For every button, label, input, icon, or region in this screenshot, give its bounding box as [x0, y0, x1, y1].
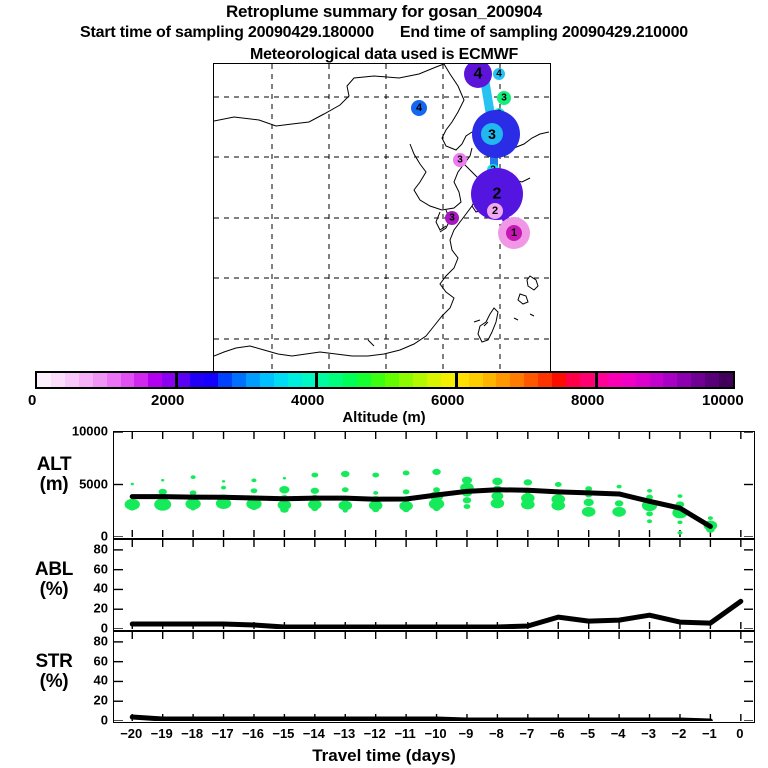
colorbar-swatch-43	[636, 373, 650, 387]
start-time-label: Start time of sampling 20090429.180000	[80, 24, 400, 42]
alt-y-tick: 5000	[48, 476, 108, 491]
alt-particle-bubble	[433, 506, 440, 511]
x-tick-label: −3	[632, 726, 666, 741]
str-y-tick: 60	[48, 653, 108, 668]
colorbar-swatch-35	[524, 373, 538, 387]
x-tick-label: −10	[419, 726, 453, 741]
colorbar-swatch-26	[399, 373, 413, 387]
colorbar-swatch-17	[274, 373, 288, 387]
alt-particle-bubble	[677, 520, 682, 524]
colorbar-swatch-37	[552, 373, 566, 387]
alt-name-text: ALT	[8, 455, 100, 475]
plume-marker-label: 3	[457, 155, 463, 166]
colorbar-tick-4000: 4000	[291, 392, 324, 409]
alt-particle-bubble	[161, 479, 164, 481]
alt-particle-bubble	[403, 470, 410, 475]
x-tick-label: −6	[540, 726, 574, 741]
abl-plot[interactable]	[113, 539, 755, 631]
x-tick-label: −4	[601, 726, 635, 741]
colorbar-tick-0: 0	[28, 392, 36, 409]
colorbar-swatch-21	[329, 373, 343, 387]
plume-marker-label: 1	[511, 227, 517, 239]
abl-y-tick: 40	[48, 581, 108, 596]
abl-y-tick: 80	[48, 541, 108, 556]
alt-particle-bubble	[191, 507, 196, 511]
alt-particle-bubble	[129, 506, 136, 511]
colorbar-swatch-5	[107, 373, 121, 387]
alt-particle-bubble	[159, 504, 166, 509]
abl-plot-svg	[114, 540, 753, 629]
alt-particle-bubble	[584, 499, 594, 506]
x-tick-label: −13	[327, 726, 361, 741]
colorbar-tick-6000: 6000	[431, 392, 464, 409]
str-plot[interactable]	[113, 631, 755, 723]
colorbar-swatch-14	[232, 373, 246, 387]
colorbar-swatch-49	[719, 373, 733, 387]
alt-particle-bubble	[279, 486, 289, 493]
alt-particle-bubble	[551, 501, 565, 511]
str-y-tick: 80	[48, 633, 108, 648]
colorbar-swatch-33	[496, 373, 510, 387]
end-time-label: End time of sampling 20090429.210000	[400, 24, 688, 42]
colorbar-swatch-42	[622, 373, 636, 387]
altitude-colorbar[interactable]	[35, 371, 735, 389]
x-tick-label: −16	[236, 726, 270, 741]
x-tick-label: −8	[479, 726, 513, 741]
colorbar-swatch-15	[246, 373, 260, 387]
colorbar-swatch-47	[691, 373, 705, 387]
colorbar-swatch-29	[441, 373, 455, 387]
plume-marker-label: 2	[492, 205, 498, 217]
alt-particle-bubble	[403, 489, 410, 494]
alt-particle-bubble	[492, 478, 502, 485]
colorbar-swatch-4	[93, 373, 107, 387]
alt-particle-bubble	[646, 511, 653, 516]
colorbar-swatch-3	[79, 373, 93, 387]
colorbar-divider	[595, 371, 598, 389]
x-tick-label: −18	[175, 726, 209, 741]
alt-particle-bubble	[617, 485, 622, 489]
alt-particle-bubble	[432, 469, 441, 475]
alt-particle-bubble	[464, 504, 471, 509]
colorbar-divider	[455, 371, 458, 389]
x-tick-label: −9	[449, 726, 483, 741]
x-tick-label: −20	[114, 726, 148, 741]
colorbar-swatch-41	[608, 373, 622, 387]
alt-particle-bubble	[221, 486, 226, 490]
alt-particle-bubble	[311, 473, 318, 478]
alt-plot[interactable]	[113, 431, 755, 539]
x-tick-label: −5	[571, 726, 605, 741]
alt-particle-bubble	[524, 479, 533, 485]
alt-particle-bubble	[403, 507, 410, 512]
alt-plot-svg	[114, 432, 753, 537]
str-line	[132, 717, 710, 721]
colorbar-swatch-31	[469, 373, 483, 387]
colorbar-tick-2000: 2000	[151, 392, 184, 409]
colorbar-swatch-27	[413, 373, 427, 387]
colorbar-swatch-38	[566, 373, 580, 387]
colorbar-swatch-28	[427, 373, 441, 387]
map-marker-layer: 44333343222311	[214, 64, 549, 370]
colorbar-swatch-36	[538, 373, 552, 387]
colorbar-swatch-12	[204, 373, 218, 387]
alt-particle-bubble	[191, 475, 196, 479]
alt-particle-bubble	[521, 499, 535, 509]
x-tick-label: −19	[145, 726, 179, 741]
colorbar-swatch-1	[51, 373, 65, 387]
x-tick-label: 0	[723, 726, 757, 741]
x-tick-label: −7	[510, 726, 544, 741]
x-tick-label: −17	[206, 726, 240, 741]
colorbar-swatch-18	[288, 373, 302, 387]
colorbar-tick-8000: 8000	[571, 392, 604, 409]
alt-particle-bubble	[555, 482, 562, 487]
x-tick-label: −15	[266, 726, 300, 741]
colorbar-swatch-10	[176, 373, 190, 387]
alt-particle-bubble	[251, 505, 258, 510]
colorbar-swatch-46	[677, 373, 691, 387]
alt-particle-bubble	[343, 509, 348, 513]
alt-particle-bubble	[372, 473, 379, 478]
colorbar-swatch-19	[302, 373, 316, 387]
sampling-time-line: Start time of sampling 20090429.180000En…	[0, 24, 768, 42]
colorbar-swatch-22	[343, 373, 357, 387]
abl-y-tick: 20	[48, 601, 108, 616]
colorbar-swatch-39	[580, 373, 594, 387]
colorbar-swatch-11	[190, 373, 204, 387]
colorbar-swatch-6	[121, 373, 135, 387]
str-plot-svg	[114, 632, 753, 721]
plume-marker-label: 3	[488, 126, 496, 142]
alt-particle-bubble	[311, 506, 318, 511]
alt-particle-bubble	[677, 494, 682, 498]
colorbar-swatch-13	[218, 373, 232, 387]
alt-particle-bubble	[372, 507, 379, 512]
alt-particle-bubble	[280, 507, 289, 513]
str-y-tick: 0	[48, 713, 108, 728]
colorbar-swatch-8	[148, 373, 162, 387]
alt-particle-bubble	[158, 489, 167, 495]
alt-particle-bubble	[491, 498, 505, 508]
colorbar-swatch-48	[705, 373, 719, 387]
plume-marker-label: 3	[449, 213, 455, 224]
alt-particle-bubble	[708, 516, 713, 520]
colorbar-swatch-7	[134, 373, 148, 387]
plume-marker-label: 4	[496, 69, 502, 80]
alt-particle-bubble	[341, 471, 350, 477]
alt-particle-bubble	[251, 488, 258, 493]
str-y-tick: 20	[48, 693, 108, 708]
x-tick-label: −12	[358, 726, 392, 741]
colorbar-divider	[315, 371, 318, 389]
alt-particle-bubble	[615, 500, 624, 506]
alt-particle-bubble	[647, 489, 652, 493]
alt-particle-bubble	[251, 478, 256, 482]
alt-particle-bubble	[221, 505, 226, 509]
alt-particle-bubble	[647, 519, 652, 523]
alt-particle-bubble	[342, 487, 349, 492]
x-tick-label: −14	[297, 726, 331, 741]
plume-marker-label: 3	[501, 93, 507, 104]
x-axis-title: Travel time (days)	[0, 746, 768, 766]
alt-particle-bubble	[463, 497, 472, 503]
colorbar-swatch-32	[483, 373, 497, 387]
alt-particle-bubble	[582, 507, 596, 517]
colorbar-swatch-25	[385, 373, 399, 387]
alt-particle-bubble	[612, 507, 626, 517]
alt-particle-bubble	[311, 488, 320, 494]
retroplume-map[interactable]: 44333343222311	[213, 63, 551, 372]
colorbar-swatch-45	[663, 373, 677, 387]
colorbar-swatch-2	[65, 373, 79, 387]
str-y-tick: 40	[48, 673, 108, 688]
colorbar-swatch-23	[357, 373, 371, 387]
alt-y-tick: 10000	[48, 424, 108, 439]
alt-particle-bubble	[283, 477, 286, 479]
alt-particle-bubble	[222, 480, 225, 482]
colorbar-swatch-44	[650, 373, 664, 387]
colorbar-tick-10000: 10000	[702, 392, 744, 409]
colorbar-swatch-24	[371, 373, 385, 387]
colorbar-swatch-16	[260, 373, 274, 387]
alt-particle-bubble	[373, 491, 378, 495]
plume-marker-label: 4	[474, 66, 483, 83]
page-title: Retroplume summary for gosan_200904	[0, 2, 768, 22]
plume-marker-label: 2	[493, 186, 502, 203]
x-tick-label: −11	[388, 726, 422, 741]
plume-marker-label: 4	[416, 102, 423, 114]
met-data-label: Meteorological data used is ECMWF	[0, 46, 768, 64]
colorbar-swatch-0	[37, 373, 51, 387]
colorbar-divider	[175, 371, 178, 389]
alt-particle-bubble	[677, 531, 682, 535]
colorbar-title: Altitude (m)	[0, 409, 768, 426]
abl-y-tick: 60	[48, 561, 108, 576]
x-tick-label: −2	[662, 726, 696, 741]
colorbar-swatch-34	[510, 373, 524, 387]
alt-particle-bubble	[131, 483, 134, 485]
x-tick-label: −1	[692, 726, 726, 741]
